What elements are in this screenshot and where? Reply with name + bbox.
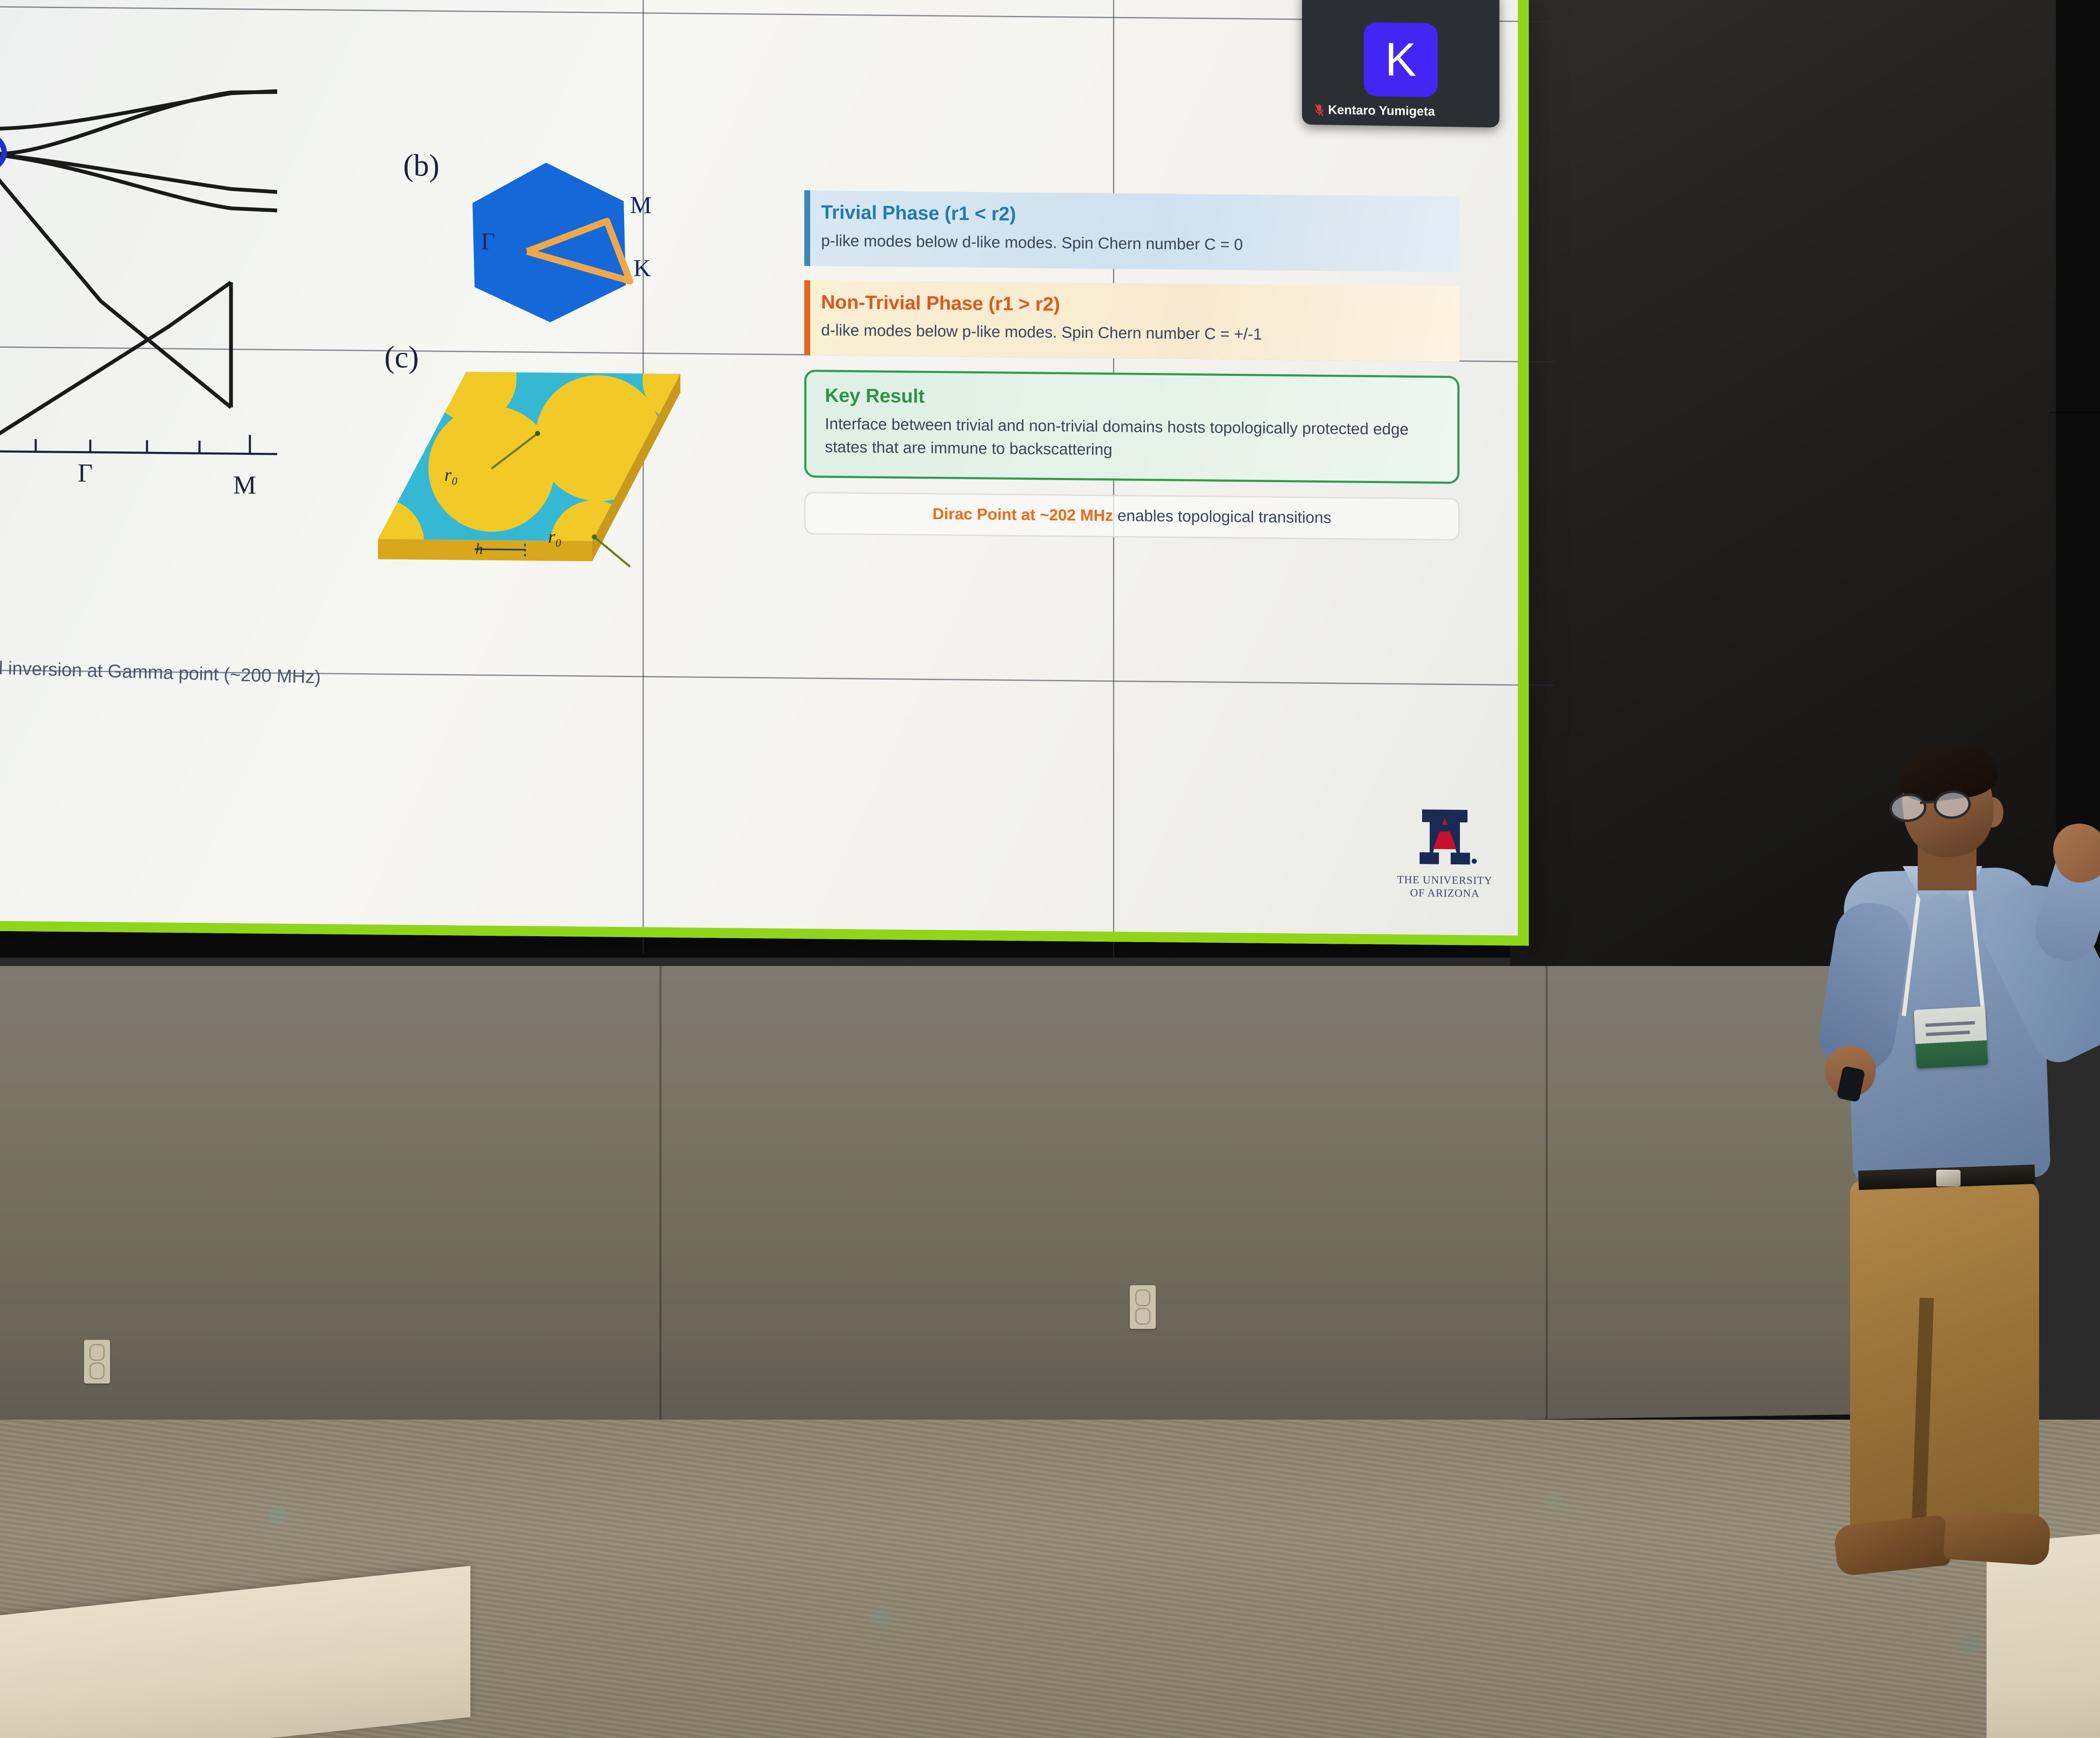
phase-cards-column: Trivial Phase (r1 < r2) p-like modes bel… bbox=[804, 190, 1459, 541]
bz-label-gamma: Γ bbox=[481, 227, 495, 255]
non-trivial-phase-accent-bar bbox=[804, 280, 810, 356]
ua-logo-line-2: OF ARIZONA bbox=[1392, 886, 1497, 900]
presenter-trousers bbox=[1850, 1180, 2039, 1550]
unit-cell-diagram bbox=[370, 354, 689, 592]
conference-room-photo: Point Γ M Wave Vector, K tures showing p… bbox=[0, 0, 2100, 1738]
figure-caption: tures showing p/d orbital inversion at G… bbox=[0, 652, 580, 695]
x-axis-title: Wave Vector, K bbox=[0, 559, 118, 591]
participant-avatar: K bbox=[1364, 22, 1438, 97]
non-trivial-phase-card: Non-Trivial Phase (r1 > r2) d-like modes… bbox=[804, 280, 1459, 362]
wall-seam bbox=[659, 966, 661, 1441]
wall-outlet-left bbox=[84, 1340, 110, 1384]
presenter-belt-buckle bbox=[1936, 1170, 1961, 1187]
x-tick-m: M bbox=[233, 470, 256, 501]
participant-name-bar: Kentaro Yumigeta bbox=[1315, 103, 1435, 119]
dirac-point-note-rest: enables topological transitions bbox=[1113, 507, 1331, 527]
unit-cell-radius-label-1: r₀ bbox=[444, 464, 458, 486]
projection-screen: Point Γ M Wave Vector, K tures showing p… bbox=[0, 0, 1529, 946]
lower-wall bbox=[0, 966, 1915, 1462]
band-structure-plot bbox=[0, 4, 277, 647]
dirac-point-note: Dirac Point at ~202 MHz enables topologi… bbox=[804, 492, 1459, 541]
bz-label-m: M bbox=[630, 191, 652, 219]
key-result-card: Key Result Interface between trivial and… bbox=[804, 370, 1459, 484]
slide-border-right bbox=[1518, 0, 1529, 946]
university-of-arizona-logo: THE UNIVERSITY OF ARIZONA bbox=[1392, 805, 1497, 901]
trivial-phase-card: Trivial Phase (r1 < r2) p-like modes bel… bbox=[804, 190, 1459, 272]
presenter bbox=[1777, 752, 2096, 1634]
trivial-phase-title: Trivial Phase (r1 < r2) bbox=[821, 201, 1445, 228]
conference-badge bbox=[1914, 1006, 1988, 1069]
non-trivial-phase-body: d-like modes below p-like modes. Spin Ch… bbox=[821, 319, 1445, 348]
key-result-body: Interface between trivial and non-trivia… bbox=[825, 413, 1441, 465]
ua-logo-line-1: THE UNIVERSITY bbox=[1392, 874, 1497, 887]
key-result-title: Key Result bbox=[825, 385, 1441, 412]
wall-seam bbox=[1546, 966, 1548, 1436]
non-trivial-phase-title: Non-Trivial Phase (r1 > r2) bbox=[821, 291, 1445, 318]
wall-outlet-center bbox=[1130, 1285, 1156, 1329]
slide-surface: Point Γ M Wave Vector, K tures showing p… bbox=[0, 0, 1518, 935]
trivial-phase-accent-bar bbox=[804, 190, 810, 266]
arizona-block-a-icon bbox=[1407, 805, 1483, 869]
brillouin-zone-diagram bbox=[397, 153, 691, 332]
trivial-phase-body: p-like modes below d-like modes. Spin Ch… bbox=[821, 229, 1445, 258]
unit-cell-thickness-label: h bbox=[475, 540, 483, 558]
presenter-shoe-right bbox=[1943, 1508, 2051, 1566]
video-participant-tile[interactable]: K Kentaro Yumigeta bbox=[1302, 0, 1499, 128]
bz-label-k: K bbox=[633, 254, 651, 282]
wall-seam bbox=[2050, 412, 2100, 413]
participant-name: Kentaro Yumigeta bbox=[1328, 103, 1435, 119]
unit-cell-radius-label-2: r₀ bbox=[548, 526, 562, 547]
x-tick-gamma: Γ bbox=[78, 458, 93, 488]
dirac-point-note-strong: Dirac Point at ~202 MHz bbox=[932, 505, 1113, 525]
microphone-muted-icon bbox=[1315, 104, 1324, 116]
